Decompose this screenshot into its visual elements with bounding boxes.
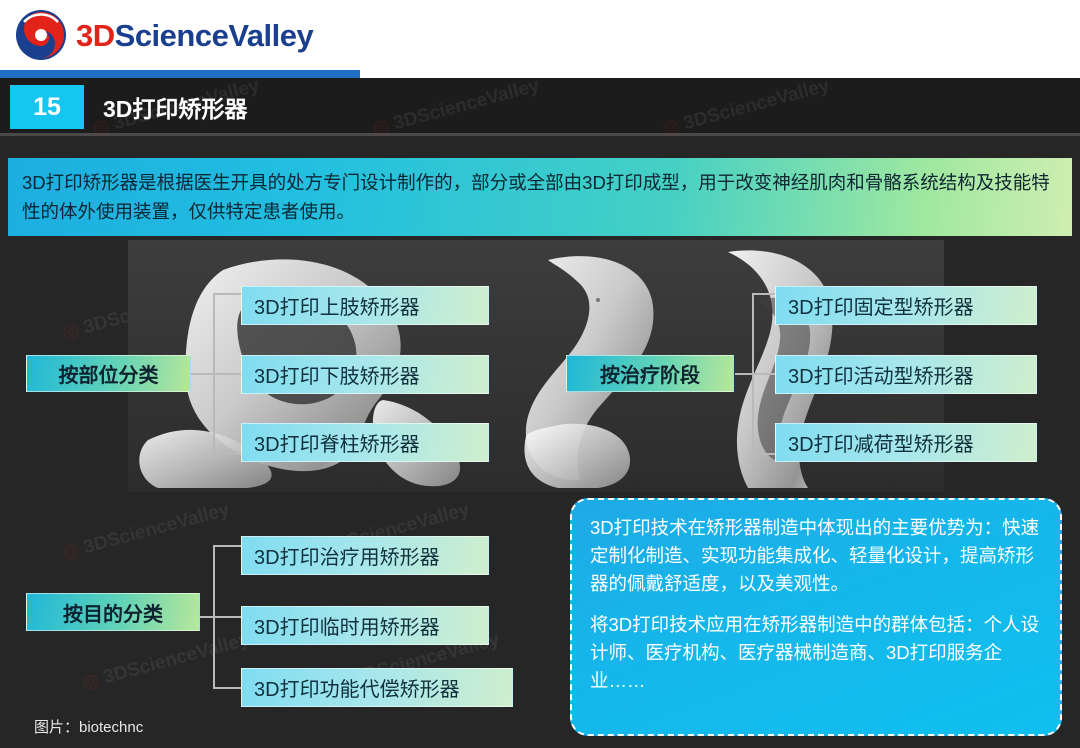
logo-text-science: Science <box>115 18 229 53</box>
advantage-paragraph-2: 将3D打印技术应用在矫形器制造中的群体包括：个人设计师、医疗机构、医疗器械制造商… <box>590 611 1042 694</box>
item-label-therapeutic: 3D打印治疗用矫形器 <box>241 536 489 575</box>
title-bar: 15 3D打印矫形器 <box>0 78 1080 136</box>
connector-branch-group3-item2 <box>213 616 243 619</box>
logo-wordmark: 3DScienceValley <box>76 20 313 51</box>
category-label-by-purpose: 按目的分类 <box>26 593 200 631</box>
connector-branch-group2-item3 <box>752 453 776 456</box>
watermark: ◎ 3DScienceValley <box>80 628 252 695</box>
logo-text-valley: Valley <box>228 18 313 53</box>
advantage-paragraph-1: 3D打印技术在矫形器制造中体现出的主要优势为：快速定制化制造、实现功能集成化、轻… <box>590 514 1042 597</box>
connector-stem-group1 <box>190 373 214 376</box>
page-title: 3D打印矫形器 <box>103 90 247 124</box>
image-credit: 图片：biotechnc <box>34 716 143 737</box>
item-label-static: 3D打印固定型矫形器 <box>775 286 1037 325</box>
intro-banner: 3D打印矫形器是根据医生开具的处方专门设计制作的，部分或全部由3D打印成型，用于… <box>8 158 1072 236</box>
item-label-lower-limb: 3D打印下肢矫形器 <box>241 355 489 394</box>
item-label-upper-limb: 3D打印上肢矫形器 <box>241 286 489 325</box>
watermark: ◎ 3DScienceValley <box>60 498 232 565</box>
item-label-unloading: 3D打印减荷型矫形器 <box>775 423 1037 462</box>
item-label-dynamic: 3D打印活动型矫形器 <box>775 355 1037 394</box>
item-label-spine: 3D打印脊柱矫形器 <box>241 423 489 462</box>
site-url: www.3dsciencevalley.com <box>372 46 638 70</box>
logo-text-3d: 3D <box>76 18 115 53</box>
header-blue-bar <box>0 70 360 78</box>
connector-branch-group3-item1 <box>213 545 243 548</box>
title-divider <box>0 133 1080 136</box>
logo-swirl-icon <box>14 8 68 62</box>
brand-logo: 3DScienceValley <box>14 8 313 62</box>
slide-number-badge: 15 <box>10 85 84 129</box>
item-label-functional-compensation: 3D打印功能代偿矫形器 <box>241 668 513 707</box>
connector-branch-group2-item2 <box>752 373 776 376</box>
connector-branch-group3-item3 <box>213 687 243 690</box>
connector-branch-group1-item2 <box>213 373 243 376</box>
connector-branch-group2-item1 <box>752 293 776 296</box>
item-label-temporary: 3D打印临时用矫形器 <box>241 606 489 645</box>
advantage-callout: 3D打印技术在矫形器制造中体现出的主要优势为：快速定制化制造、实现功能集成化、轻… <box>570 498 1062 736</box>
connector-branch-group1-item3 <box>213 453 243 456</box>
category-label-by-site: 按部位分类 <box>26 355 191 392</box>
slide: 3DScienceValley www.3dsciencevalley.com … <box>0 0 1080 748</box>
connector-stem-group2 <box>735 373 753 376</box>
connector-branch-group1-item1 <box>213 293 243 296</box>
category-label-by-stage: 按治疗阶段 <box>566 355 734 392</box>
